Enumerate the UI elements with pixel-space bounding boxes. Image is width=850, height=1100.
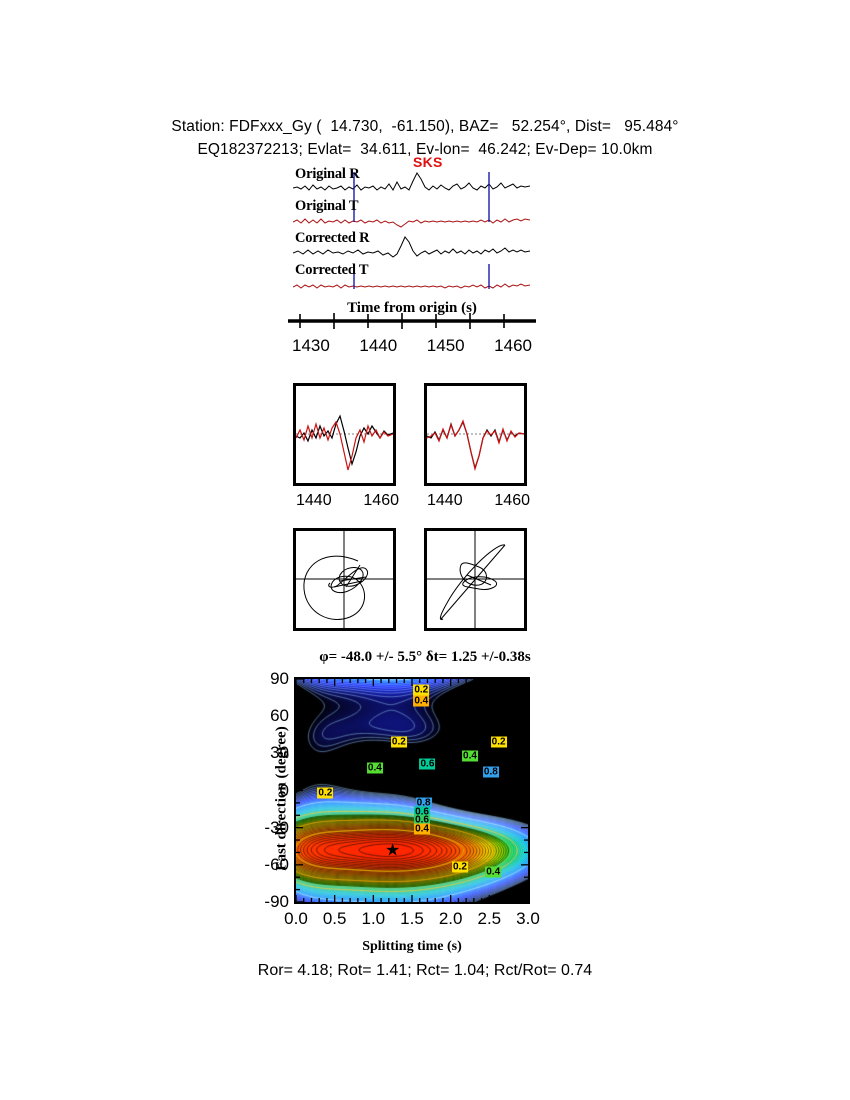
time-tick-1440: 1440: [359, 336, 397, 356]
contour-label: 0.2: [391, 737, 407, 748]
compare-waveform-uncorrected: [296, 386, 393, 483]
particle-motion-uncorrected: [293, 528, 396, 631]
contour-label: 0.2: [491, 737, 507, 748]
contour-label: 0.2: [317, 787, 333, 798]
compare-left-tick-end: 1460: [363, 492, 399, 510]
compare-right-tick-end: 1460: [494, 492, 530, 510]
contour-label: 0.2: [413, 685, 429, 696]
particle-motion-plot-corrected: [427, 531, 524, 628]
trace-label-corrected-t: Corrected T: [295, 262, 368, 279]
time-tick-1450: 1450: [427, 336, 465, 356]
contour-label: 0.2: [452, 862, 468, 873]
compare-left-tick-start: 1440: [296, 492, 332, 510]
error-surface-plot: Fast direction (degree) ★ 0.20.40.20.20.…: [294, 677, 530, 904]
station-info-line: Station: FDFxxx_Gy ( 14.730, -61.150), B…: [0, 118, 850, 136]
trace-label-original-r: Original R: [295, 166, 359, 183]
trace-row-original-t: Original T: [293, 200, 530, 232]
compare-right-tick-start: 1440: [427, 492, 463, 510]
contour-label: 0.4: [413, 696, 429, 707]
contour-label: 0.4: [414, 823, 430, 834]
contour-label: 0.4: [367, 763, 383, 774]
sks-phase-label: SKS: [413, 154, 443, 170]
particle-motion-plot-uncorrected: [296, 531, 393, 628]
particle-motion-corrected: [424, 528, 527, 631]
trace-label-original-t: Original T: [295, 198, 358, 215]
quality-factor-footer: Ror= 4.18; Rot= 1.41; Rct= 1.04; Rct/Rot…: [0, 962, 850, 980]
splitting-result-title: φ= -48.0 +/- 5.5° δt= 1.25 +/-0.38s: [0, 649, 850, 666]
compare-right-ticklabels: 1440 1460: [427, 492, 530, 510]
time-tick-1430: 1430: [292, 336, 330, 356]
trace-row-corrected-t: Corrected T: [293, 264, 530, 296]
particle-motion-panels: [293, 528, 530, 631]
contour-label: 0.6: [420, 759, 436, 770]
figure-header: Station: FDFxxx_Gy ( 14.730, -61.150), B…: [0, 118, 850, 159]
time-axis: Time from origin (s) 1430 1440 1450 1460: [286, 300, 538, 356]
contour-x-axis-title: Splitting time (s): [294, 939, 530, 955]
contour-label: 0.8: [483, 766, 499, 777]
time-axis-title: Time from origin (s): [286, 300, 538, 317]
compare-panel-uncorrected: 1440 1460: [293, 383, 396, 486]
trace-row-corrected-r: Corrected R: [293, 232, 530, 264]
fast-slow-compare-panels: 1440 1460 1440 1460: [293, 383, 530, 493]
compare-waveform-corrected: [427, 386, 524, 483]
contour-label: 0.4: [485, 867, 501, 878]
compare-panel-corrected: 1440 1460: [424, 383, 527, 486]
time-axis-ticklabels: 1430 1440 1450 1460: [286, 334, 538, 356]
contour-label: 0.4: [462, 750, 478, 761]
error-minimum-star-marker: ★: [385, 841, 400, 858]
trace-label-corrected-r: Corrected R: [295, 230, 369, 247]
time-tick-1460: 1460: [494, 336, 532, 356]
waveform-panel: SKS Original R Original T Corrected R Co…: [293, 168, 530, 298]
compare-left-ticklabels: 1440 1460: [296, 492, 399, 510]
trace-row-original-r: Original R: [293, 168, 530, 200]
